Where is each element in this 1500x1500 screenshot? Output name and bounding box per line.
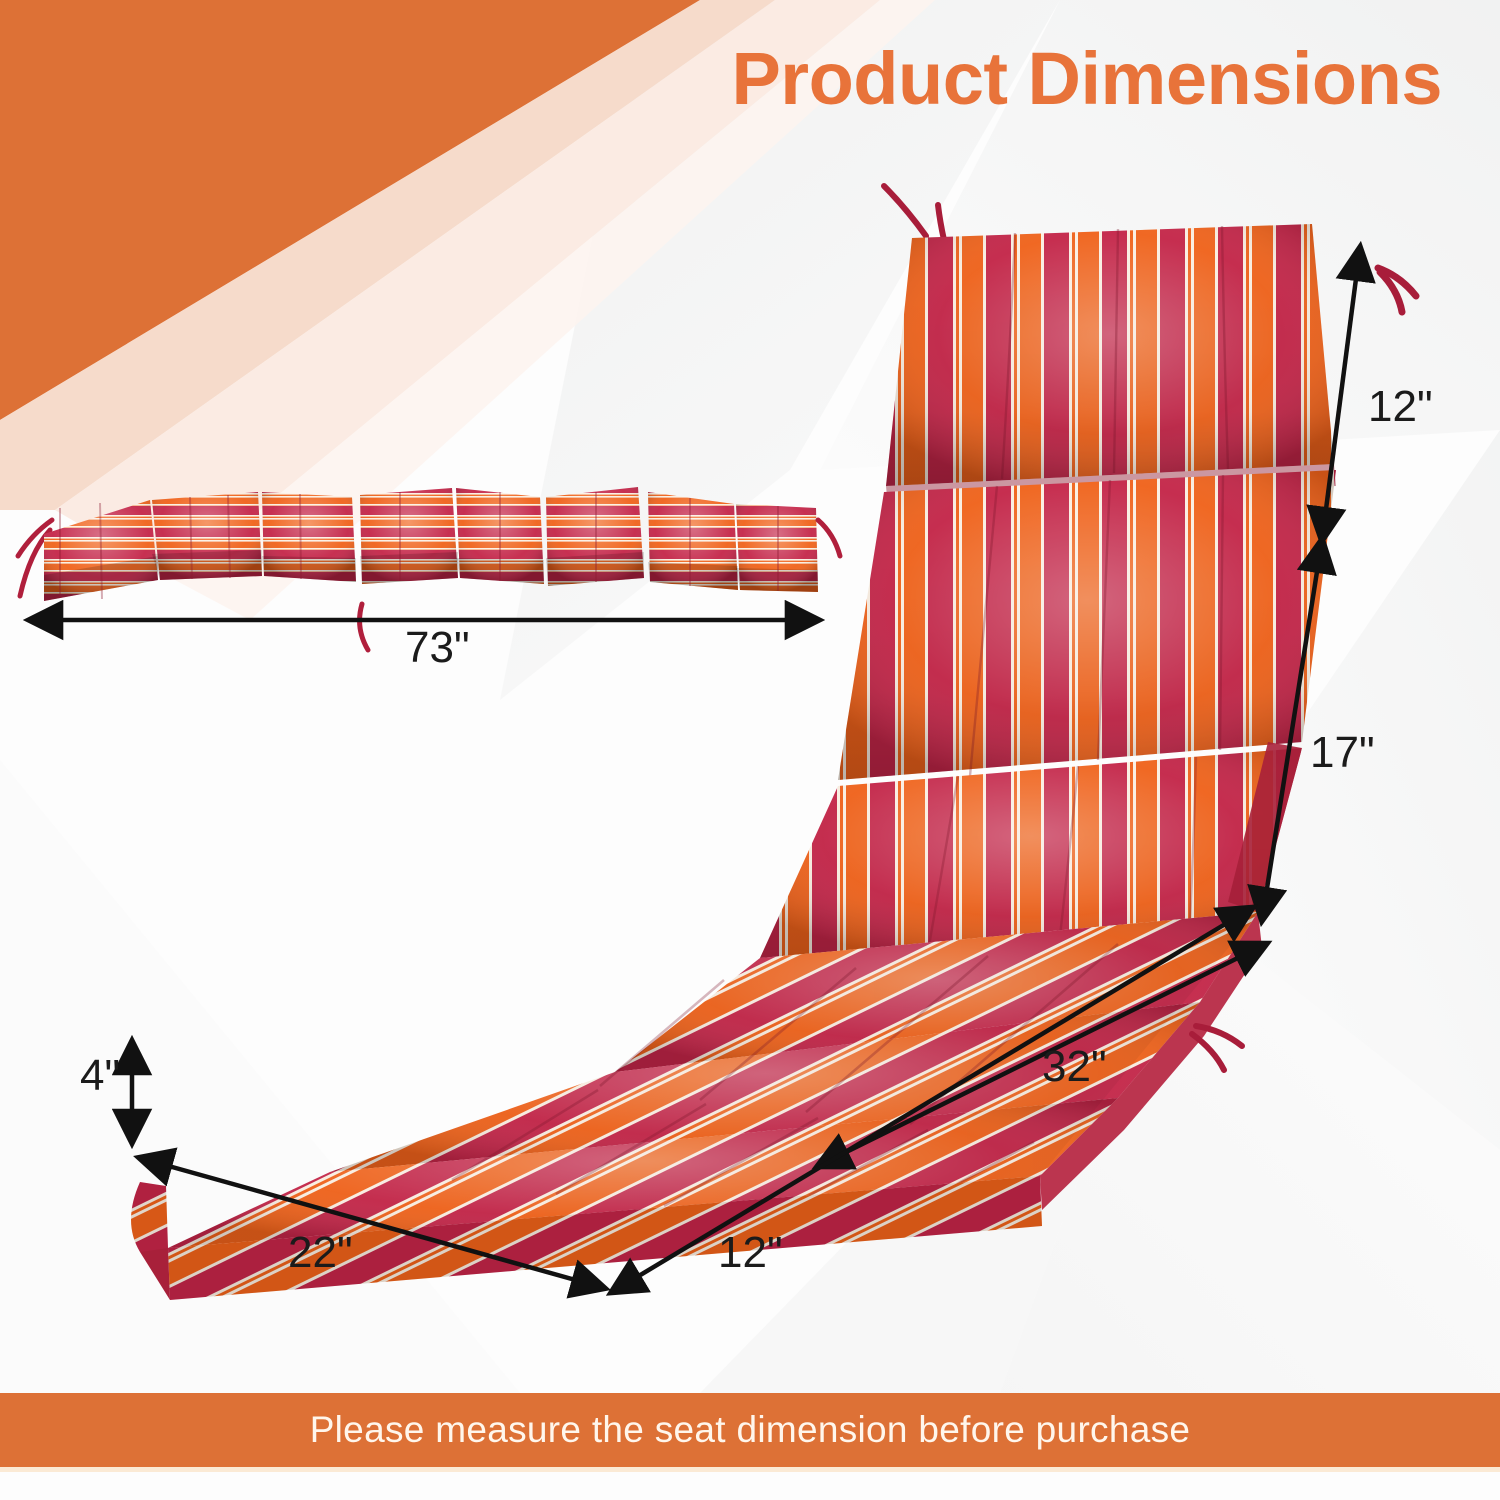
- footer-banner-text: Please measure the seat dimension before…: [310, 1409, 1191, 1451]
- product-dimensions-infographic: Product Dimensions: [0, 0, 1500, 1500]
- reclined-cushion-view: [131, 186, 1416, 1300]
- dimension-label-headrest-height: 12": [1368, 382, 1433, 432]
- headrest-section: [886, 224, 1336, 508]
- dimension-label-seat-length: 32": [1042, 1042, 1107, 1092]
- footer-banner: Please measure the seat dimension before…: [0, 1393, 1500, 1467]
- backrest-section: [838, 470, 1336, 780]
- dimension-label-seat-width: 22": [288, 1228, 353, 1278]
- dimension-label-cushion-thickness: 4": [80, 1051, 120, 1101]
- dimension-label-backrest-height: 17": [1310, 728, 1375, 778]
- footer-banner-underline: [0, 1467, 1500, 1472]
- dimension-label-front-depth: 12": [718, 1228, 783, 1278]
- dimension-label-total-length: 73": [405, 623, 470, 673]
